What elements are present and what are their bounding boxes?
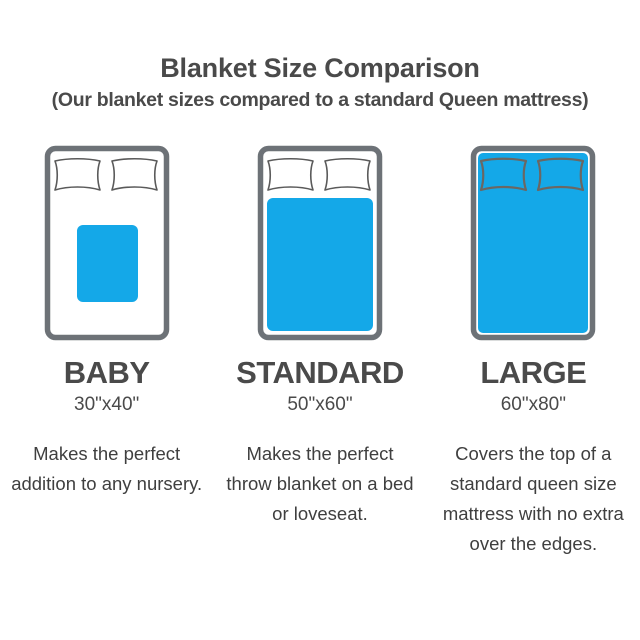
comparison-column-large: LARGE 60"x80" Covers the top of a standa… [427, 145, 640, 559]
standard-blanket-on-queen-mattress-diagram [257, 145, 383, 345]
large-blanket-on-queen-mattress-diagram [470, 145, 596, 345]
blanket-area [478, 153, 588, 333]
size-description-baby: Makes the perfect addition to any nurser… [9, 439, 205, 499]
pillow-icon [55, 159, 100, 190]
size-dimensions-standard: 50"x60" [287, 393, 352, 417]
blanket-area [77, 225, 138, 302]
header: Blanket Size Comparison (Our blanket siz… [0, 52, 640, 113]
blanket-size-comparison-infographic: Blanket Size Comparison (Our blanket siz… [0, 0, 640, 640]
comparison-columns: BABY 30"x40" Makes the perfect addition … [0, 145, 640, 559]
page-subtitle: (Our blanket sizes compared to a standar… [0, 87, 640, 113]
size-dimensions-baby: 30"x40" [74, 393, 139, 417]
comparison-column-standard: STANDARD 50"x60" Makes the perfect throw… [213, 145, 426, 529]
pillow-icon [268, 159, 313, 190]
blanket-area [267, 198, 373, 331]
pillow-icon [325, 159, 370, 190]
size-name-baby: BABY [64, 355, 150, 391]
baby-blanket-on-queen-mattress-diagram [44, 145, 170, 345]
page-title: Blanket Size Comparison [0, 52, 640, 84]
comparison-column-baby: BABY 30"x40" Makes the perfect addition … [0, 145, 213, 499]
size-description-standard: Makes the perfect throw blanket on a bed… [222, 439, 418, 529]
pillow-icon [112, 159, 157, 190]
size-name-large: LARGE [480, 355, 586, 391]
size-dimensions-large: 60"x80" [501, 393, 566, 417]
size-description-large: Covers the top of a standard queen size … [435, 439, 631, 559]
size-name-standard: STANDARD [236, 355, 404, 391]
